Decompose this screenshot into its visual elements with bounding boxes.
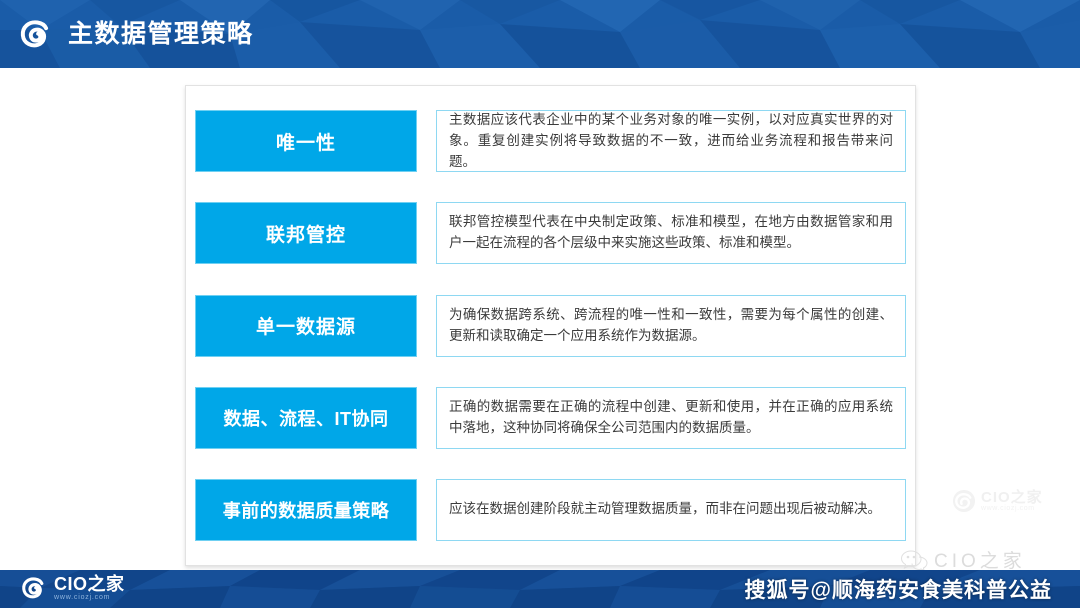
strategy-description-text: 应该在数据创建阶段就主动管理数据质量，而非在问题出现后被动解决。	[449, 499, 881, 520]
strategy-row-list: 唯一性 主数据应该代表企业中的某个业务对象的唯一实例，以对应真实世界的对象。重复…	[195, 95, 906, 556]
footer-caption: 搜狐号@顺海药安食美科普公益	[0, 570, 1080, 608]
swirl-logo-icon	[18, 16, 54, 52]
strategy-row: 数据、流程、IT协同 正确的数据需要在正确的流程中创建、更新和使用，并在正确的应…	[195, 372, 906, 464]
strategy-row: 事前的数据质量策略 应该在数据创建阶段就主动管理数据质量，而非在问题出现后被动解…	[195, 464, 906, 556]
strategy-label[interactable]: 事前的数据质量策略	[195, 479, 417, 541]
strategy-label[interactable]: 唯一性	[195, 110, 417, 172]
strategy-description: 应该在数据创建阶段就主动管理数据质量，而非在问题出现后被动解决。	[436, 479, 906, 541]
strategy-description-text: 为确保数据跨系统、跨流程的唯一性和一致性，需要为每个属性的创建、更新和读取确定一…	[449, 305, 893, 347]
strategy-description-text: 正确的数据需要在正确的流程中创建、更新和使用，并在正确的应用系统中落地，这种协同…	[449, 397, 893, 439]
strategy-label[interactable]: 联邦管控	[195, 202, 417, 264]
page-title: 主数据管理策略	[68, 22, 254, 47]
strategy-row: 单一数据源 为确保数据跨系统、跨流程的唯一性和一致性，需要为每个属性的创建、更新…	[195, 279, 906, 371]
strategy-description: 主数据应该代表企业中的某个业务对象的唯一实例，以对应真实世界的对象。重复创建实例…	[436, 110, 906, 172]
page-header: 主数据管理策略	[0, 0, 1080, 68]
strategy-row: 唯一性 主数据应该代表企业中的某个业务对象的唯一实例，以对应真实世界的对象。重复…	[195, 95, 906, 187]
strategy-description-text: 联邦管控模型代表在中央制定政策、标准和模型，在地方由数据管家和用户一起在流程的各…	[449, 212, 893, 254]
strategy-label[interactable]: 数据、流程、IT协同	[195, 387, 417, 449]
strategy-row: 联邦管控 联邦管控模型代表在中央制定政策、标准和模型，在地方由数据管家和用户一起…	[195, 187, 906, 279]
strategy-description-text: 主数据应该代表企业中的某个业务对象的唯一实例，以对应真实世界的对象。重复创建实例…	[449, 110, 893, 173]
strategy-description: 为确保数据跨系统、跨流程的唯一性和一致性，需要为每个属性的创建、更新和读取确定一…	[436, 295, 906, 357]
page-footer: CIO之家 www.ciozj.com 搜狐号@顺海药安食美科普公益	[0, 570, 1080, 608]
strategy-description: 联邦管控模型代表在中央制定政策、标准和模型，在地方由数据管家和用户一起在流程的各…	[436, 202, 906, 264]
strategy-label[interactable]: 单一数据源	[195, 295, 417, 357]
slide-content-area: 唯一性 主数据应该代表企业中的某个业务对象的唯一实例，以对应真实世界的对象。重复…	[0, 71, 1080, 570]
strategy-description: 正确的数据需要在正确的流程中创建、更新和使用，并在正确的应用系统中落地，这种协同…	[436, 387, 906, 449]
strategy-panel: 唯一性 主数据应该代表企业中的某个业务对象的唯一实例，以对应真实世界的对象。重复…	[185, 85, 916, 566]
